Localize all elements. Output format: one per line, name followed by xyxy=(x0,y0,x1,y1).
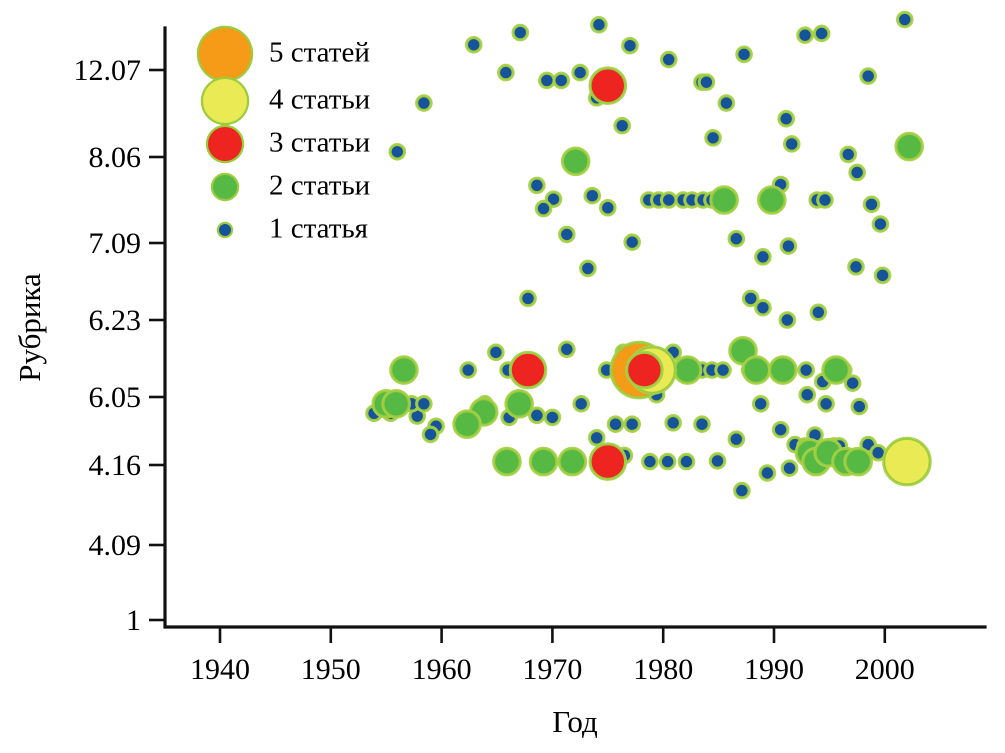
legend-marker-5 xyxy=(199,28,251,80)
data-point-1-120[interactable] xyxy=(783,462,796,475)
y-axis-title: Рубрика xyxy=(12,273,47,382)
data-point-1-0[interactable] xyxy=(417,97,430,110)
data-point-1-23[interactable] xyxy=(785,137,798,150)
data-point-2-9[interactable] xyxy=(770,358,795,383)
data-point-1-86[interactable] xyxy=(530,409,543,422)
data-point-1-94[interactable] xyxy=(424,428,437,441)
data-point-3-2[interactable] xyxy=(627,353,661,387)
x-tick-label-2000: 2000 xyxy=(855,653,915,686)
x-tick-label-1960: 1960 xyxy=(412,653,472,686)
legend-label-2: 2 статьи xyxy=(269,170,370,202)
data-point-1-21[interactable] xyxy=(616,119,629,132)
data-point-2-2[interactable] xyxy=(759,188,784,213)
legend-label-4: 4 статьи xyxy=(269,84,370,116)
data-point-1-56[interactable] xyxy=(812,306,825,319)
data-point-1-55[interactable] xyxy=(781,314,794,327)
legend: 5 статей4 статьи3 статьи2 статьи1 статья xyxy=(197,26,370,245)
legend-marker-2 xyxy=(213,175,237,199)
data-point-1-1[interactable] xyxy=(467,38,480,51)
data-point-2-17[interactable] xyxy=(531,449,556,474)
data-point-1-96[interactable] xyxy=(609,418,622,431)
scatter-chart: 14.094.166.056.237.098.0612.071940195019… xyxy=(0,0,1005,753)
y-tick-label-12.07: 12.07 xyxy=(74,54,142,87)
data-point-1-12[interactable] xyxy=(700,76,713,89)
data-point-1-38[interactable] xyxy=(662,194,675,207)
legend-marker-3 xyxy=(208,127,242,161)
data-point-1-116[interactable] xyxy=(680,455,693,468)
data-point-1-45[interactable] xyxy=(626,236,639,249)
data-point-1-7[interactable] xyxy=(623,39,636,52)
data-point-1-119[interactable] xyxy=(761,467,774,480)
data-point-1-49[interactable] xyxy=(581,262,594,275)
data-point-1-41[interactable] xyxy=(818,194,831,207)
x-tick-label-1940: 1940 xyxy=(190,653,250,686)
data-point-2-1[interactable] xyxy=(712,188,737,213)
data-point-1-2[interactable] xyxy=(499,66,512,79)
x-tick-label-1950: 1950 xyxy=(301,653,361,686)
data-point-1-14[interactable] xyxy=(738,48,751,61)
x-tick-label-1980: 1980 xyxy=(633,653,693,686)
data-point-1-29[interactable] xyxy=(586,189,599,202)
data-point-2-7[interactable] xyxy=(675,358,700,383)
y-tick-label-6.05: 6.05 xyxy=(89,381,142,414)
data-point-1-44[interactable] xyxy=(560,228,573,241)
data-point-1-46[interactable] xyxy=(730,232,743,245)
data-point-1-15[interactable] xyxy=(780,112,793,125)
data-point-1-3[interactable] xyxy=(514,26,527,39)
y-tick-label-6.23: 6.23 xyxy=(89,304,142,337)
y-tick-label-1: 1 xyxy=(126,604,141,637)
series-2-articles xyxy=(373,133,923,475)
data-point-1-42[interactable] xyxy=(865,198,878,211)
data-point-1-52[interactable] xyxy=(522,292,535,305)
data-point-1-58[interactable] xyxy=(560,343,573,356)
data-point-1-93[interactable] xyxy=(575,397,588,410)
data-point-1-28[interactable] xyxy=(537,202,550,215)
y-tick-label-8.06: 8.06 xyxy=(89,141,142,174)
data-point-4-1[interactable] xyxy=(884,439,929,484)
data-point-1-95[interactable] xyxy=(590,431,603,444)
data-point-2-3[interactable] xyxy=(897,134,922,159)
data-point-1-24[interactable] xyxy=(842,148,855,161)
data-points-group xyxy=(366,12,930,498)
data-point-2-16[interactable] xyxy=(494,449,519,474)
data-point-1-87[interactable] xyxy=(546,411,559,424)
data-point-1-109[interactable] xyxy=(820,397,833,410)
data-point-1-6[interactable] xyxy=(592,18,605,31)
data-point-1-101[interactable] xyxy=(774,423,787,436)
data-point-1-97[interactable] xyxy=(626,418,639,431)
data-point-2-0[interactable] xyxy=(563,149,588,174)
series-1-articles xyxy=(366,12,914,498)
y-tick-label-4.09: 4.09 xyxy=(89,529,142,562)
axis-lines xyxy=(165,28,985,627)
data-point-1-118[interactable] xyxy=(735,484,748,497)
data-point-1-70[interactable] xyxy=(717,364,730,377)
data-point-1-20[interactable] xyxy=(391,145,404,158)
data-point-1-51[interactable] xyxy=(876,269,889,282)
data-point-1-98[interactable] xyxy=(667,416,680,429)
data-point-1-47[interactable] xyxy=(756,250,769,263)
data-point-1-54[interactable] xyxy=(756,301,769,314)
data-point-3-3[interactable] xyxy=(591,445,625,479)
legend-label-5: 5 статей xyxy=(269,37,370,69)
data-point-1-43[interactable] xyxy=(874,218,887,231)
x-tick-label-1990: 1990 xyxy=(744,653,804,686)
data-point-1-19[interactable] xyxy=(898,13,911,26)
x-tick-label-1970: 1970 xyxy=(522,653,582,686)
data-point-1-30[interactable] xyxy=(601,201,614,214)
data-point-1-16[interactable] xyxy=(799,29,812,42)
data-point-1-22[interactable] xyxy=(707,131,720,144)
data-point-1-110[interactable] xyxy=(853,400,866,413)
data-point-1-26[interactable] xyxy=(530,179,543,192)
data-point-1-115[interactable] xyxy=(661,455,674,468)
data-point-2-15[interactable] xyxy=(455,412,480,437)
data-point-1-13[interactable] xyxy=(720,97,733,110)
data-point-1-114[interactable] xyxy=(643,455,656,468)
data-point-1-50[interactable] xyxy=(849,260,862,273)
data-point-1-79[interactable] xyxy=(801,388,814,401)
data-point-1-17[interactable] xyxy=(815,27,828,40)
data-point-1-10[interactable] xyxy=(662,53,675,66)
y-tick-label-4.16: 4.16 xyxy=(89,449,142,482)
data-point-1-57[interactable] xyxy=(489,346,502,359)
data-point-1-90[interactable] xyxy=(417,397,430,410)
data-point-1-100[interactable] xyxy=(730,433,743,446)
data-point-2-8[interactable] xyxy=(744,358,769,383)
y-tick-label-7.09: 7.09 xyxy=(89,227,142,260)
data-point-1-99[interactable] xyxy=(695,418,708,431)
data-point-3-0[interactable] xyxy=(591,69,625,103)
data-point-1-48[interactable] xyxy=(782,240,795,253)
data-point-1-8[interactable] xyxy=(574,66,587,79)
legend-label-3: 3 статьи xyxy=(269,127,370,159)
chart-canvas: 14.094.166.056.237.098.0612.071940195019… xyxy=(0,0,1005,753)
data-point-1-74[interactable] xyxy=(800,364,813,377)
legend-marker-4 xyxy=(203,79,247,123)
data-point-1-108[interactable] xyxy=(754,397,767,410)
data-point-1-53[interactable] xyxy=(744,292,757,305)
legend-label-1: 1 статья xyxy=(269,213,368,245)
x-axis-title: Год xyxy=(552,704,598,739)
data-point-2-23[interactable] xyxy=(846,449,871,474)
data-point-2-10[interactable] xyxy=(824,358,849,383)
data-point-1-4[interactable] xyxy=(540,74,553,87)
data-point-1-25[interactable] xyxy=(851,166,864,179)
data-point-1-61[interactable] xyxy=(462,364,475,377)
data-point-2-5[interactable] xyxy=(391,358,416,383)
data-point-3-1[interactable] xyxy=(511,353,545,387)
data-point-1-5[interactable] xyxy=(555,74,568,87)
data-point-2-14[interactable] xyxy=(507,391,532,416)
data-point-1-18[interactable] xyxy=(862,70,875,83)
data-point-1-117[interactable] xyxy=(711,454,724,467)
data-point-2-18[interactable] xyxy=(560,449,585,474)
data-point-2-12[interactable] xyxy=(384,391,409,416)
legend-marker-1 xyxy=(219,224,231,236)
